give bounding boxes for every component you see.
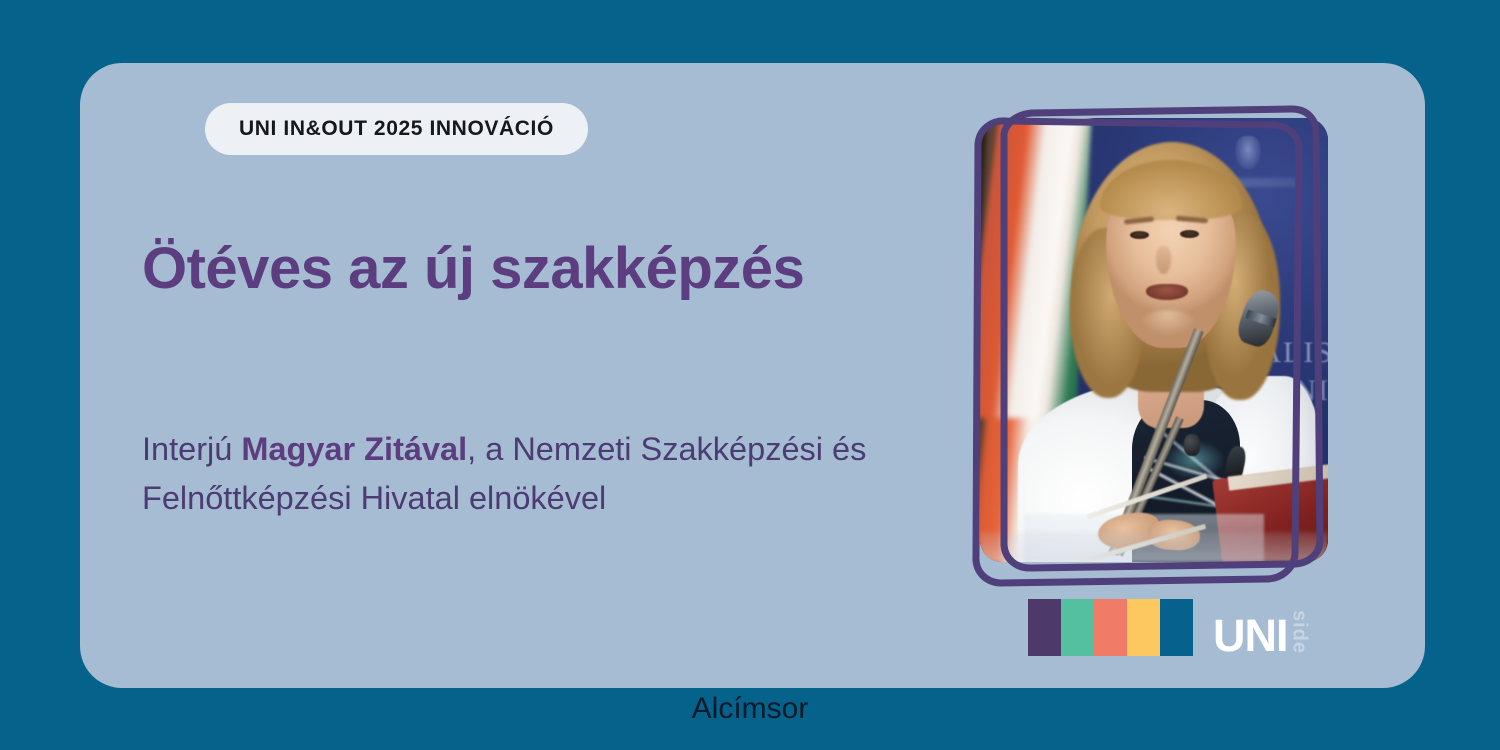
- footer-caption: Alcímsor: [0, 692, 1500, 726]
- speaker-photo: ÁLIS INI: [980, 118, 1328, 562]
- slide-canvas: UNI IN&OUT 2025 INNOVÁCIÓ Ötéves az új s…: [0, 0, 1500, 750]
- photo-eye-left: [1130, 231, 1149, 239]
- logo-bar-teal: [1061, 599, 1094, 656]
- eyebrow-badge-label: UNI IN&OUT 2025 INNOVÁCIÓ: [239, 117, 554, 141]
- subtitle-prefix: Interjú: [142, 431, 241, 467]
- subtitle-emphasis: Magyar Zitával: [241, 431, 467, 467]
- eyebrow-badge[interactable]: UNI IN&OUT 2025 INNOVÁCIÓ: [205, 103, 588, 155]
- photo-microphone-knob: [1184, 434, 1200, 456]
- photo-wall-crest: [1235, 136, 1261, 170]
- logo-text-side: side: [1290, 610, 1310, 654]
- logo-text-uni: UNI: [1213, 615, 1288, 656]
- photo-mouth: [1146, 284, 1188, 300]
- logo-bar-amber: [1127, 599, 1160, 656]
- photo-eye-right: [1180, 230, 1199, 238]
- photo-bottom-haze: [980, 532, 1328, 562]
- logo-wordmark: UNI side: [1213, 599, 1310, 656]
- photo-nose: [1156, 246, 1171, 274]
- logo-bar-blue: [1160, 599, 1193, 656]
- logo-color-bars: [1028, 599, 1193, 656]
- logo-bar-coral: [1094, 599, 1127, 656]
- speaker-photo-block: ÁLIS INI: [948, 92, 1348, 592]
- photo-chin-highlight: [1140, 310, 1196, 336]
- uniside-logo: UNI side: [1028, 599, 1310, 656]
- logo-bar-purple: [1028, 599, 1061, 656]
- subtitle: Interjú Magyar Zitával, a Nemzeti Szakké…: [142, 425, 932, 524]
- page-title: Ötéves az új szakképzés: [142, 238, 902, 299]
